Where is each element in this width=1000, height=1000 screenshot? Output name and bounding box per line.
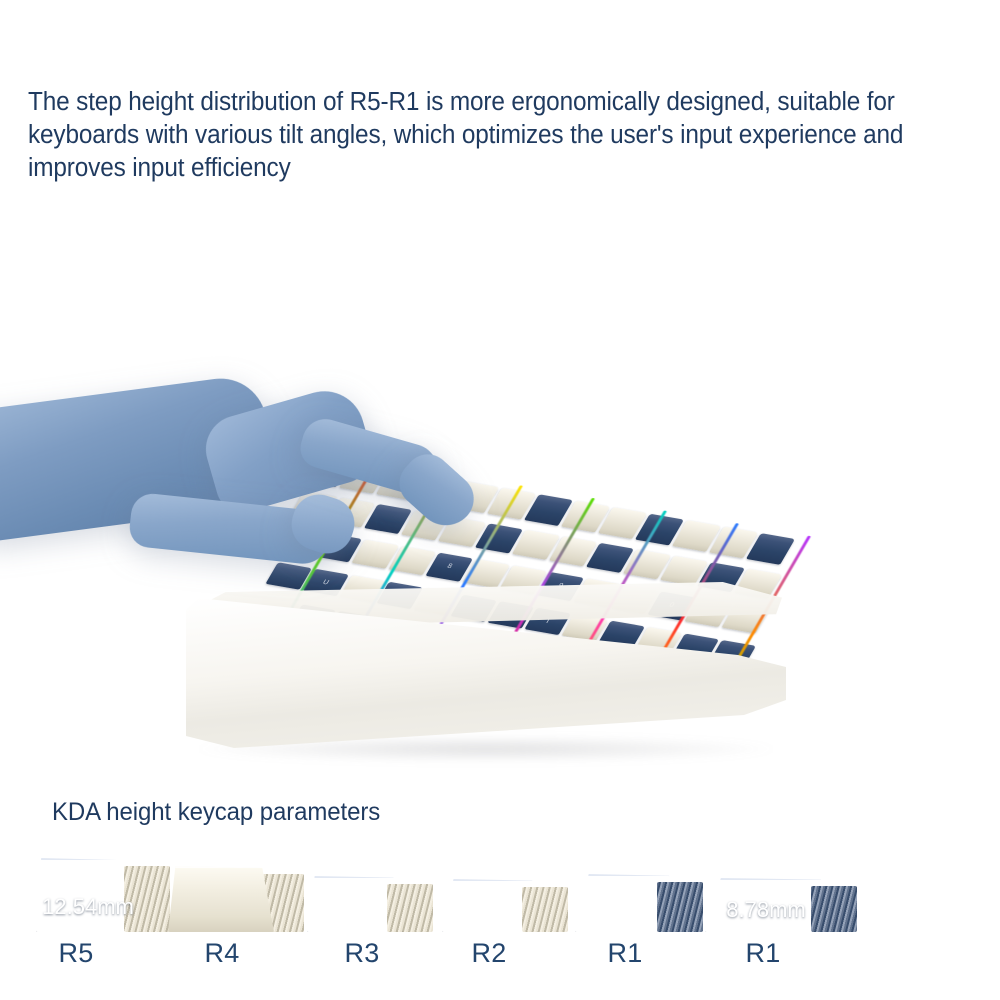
row-label-r5-0: R5 [59,938,94,969]
profile-keycap-r1-5[interactable]: 8.78mm [705,878,827,932]
row-label-r3-2: R3 [345,938,380,969]
diagram-title: KDA height keycap parameters [52,798,380,827]
product-hero-image: 7890UIOP [0,220,1000,780]
keycap-legend: U [322,578,331,586]
profile-keycap-r4-1[interactable] [168,866,274,932]
row-label-r1-5: R1 [746,938,781,969]
profile-keycap-body: 12.54mm [36,858,140,932]
profile-keycap-body [442,879,538,932]
keycap-profile-strip: 12.54mm8.78mm [0,846,1000,932]
keycap-height-value: 8.78mm [726,897,805,923]
row-label-r4-1: R4 [205,938,240,969]
profile-keycap-body: 8.78mm [705,878,827,932]
profile-keycap-r1-4[interactable] [575,874,673,932]
profile-keycap-r3-2[interactable] [307,876,403,932]
row-label-r1-4: R1 [608,938,643,969]
keycap-height-value: 12.54mm [42,894,134,920]
profile-keycap-body [307,876,403,932]
profile-keycap-r5-0[interactable]: 12.54mm [36,858,140,932]
keycap-legend: 8 [446,562,454,570]
keyboard-case [186,598,786,748]
row-label-r2-3: R2 [472,938,507,969]
profile-keycap-body [575,874,673,932]
headline-paragraph: The step height distribution of R5-R1 is… [28,86,937,185]
profile-keycap-body [168,866,274,932]
keycap-row-labels: R5R4R3R2R1R1 [0,938,1000,982]
profile-keycap-r2-3[interactable] [442,879,538,932]
